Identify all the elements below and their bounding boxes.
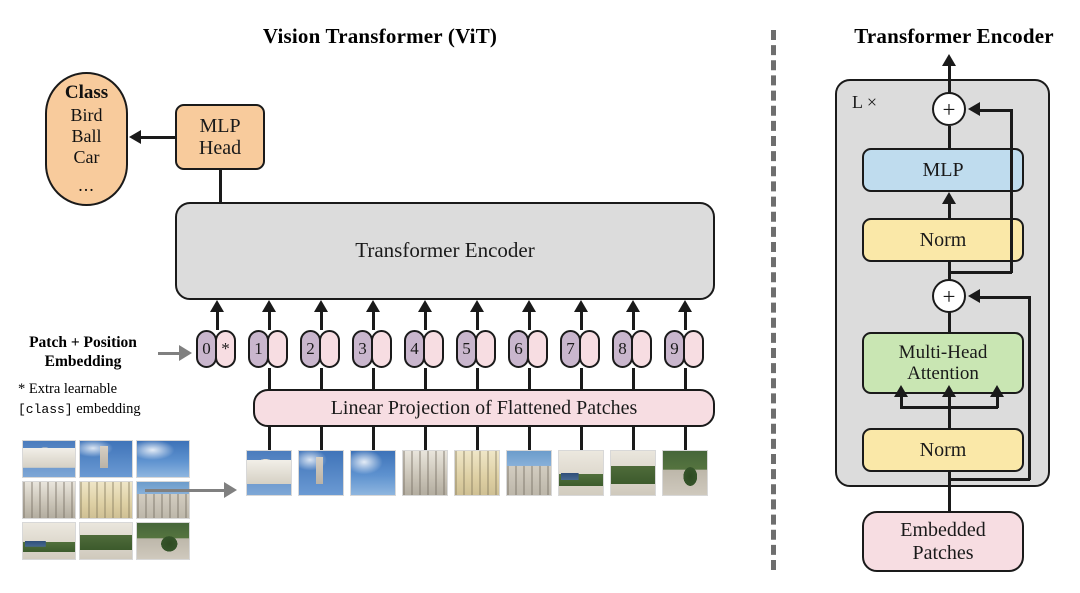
- position-pill-4: 4: [404, 330, 425, 368]
- mlp-head-to-class-arrowhead: [129, 130, 141, 144]
- mha-input-arrowhead-1: [894, 385, 908, 397]
- note-class-token: [class]: [18, 402, 73, 417]
- projection-to-patch-line-5: [476, 427, 479, 450]
- encoder-input-arrowhead-3: [366, 300, 380, 312]
- encoder-input-arrowhead-6: [522, 300, 536, 312]
- projection-to-patch-line-8: [632, 427, 635, 450]
- norm-bottom-label: Norm: [920, 439, 967, 461]
- flattened-patch-4: [402, 450, 448, 496]
- token-9: 9: [664, 330, 704, 368]
- class-token-pill: *: [215, 330, 236, 368]
- projection-to-patch-line-3: [372, 427, 375, 450]
- position-pill-9: 9: [664, 330, 685, 368]
- token-to-projection-line-7: [580, 368, 583, 389]
- note-line1: * Extra learnable: [18, 380, 188, 400]
- source-patch-9: [136, 522, 190, 560]
- projection-to-patch-line-4: [424, 427, 427, 450]
- patch-pill-3: [371, 330, 392, 368]
- projection-to-patch-line-9: [684, 427, 687, 450]
- left-panel-title: Vision Transformer (ViT): [180, 24, 580, 49]
- residual-bottom-h-lower: [948, 478, 1030, 481]
- encoder-input-line-8: [632, 312, 635, 330]
- mha-label-line2: Attention: [907, 363, 979, 384]
- embedding-label-arrow-line: [158, 352, 180, 355]
- class-box-heading: Class: [65, 82, 108, 104]
- position-pill-8: 8: [612, 330, 633, 368]
- token-8: 8: [612, 330, 652, 368]
- mlp-block-label: MLP: [922, 159, 963, 181]
- token-to-projection-line-3: [372, 368, 375, 389]
- encoder-input-arrowhead-2: [314, 300, 328, 312]
- source-grid-arrowhead: [224, 482, 237, 498]
- position-pill-6: 6: [508, 330, 529, 368]
- encoder-input-line-4: [424, 312, 427, 330]
- encoder-input-line-0: [216, 312, 219, 330]
- embedding-label-line2: Embedding: [8, 353, 158, 372]
- vit-architecture-figure: Vision Transformer (ViT) Class Bird Ball…: [0, 0, 1080, 593]
- encoder-input-arrowhead-8: [626, 300, 640, 312]
- token-7: 7: [560, 330, 600, 368]
- encoder-input-line-2: [320, 312, 323, 330]
- encoder-input-arrowhead-9: [678, 300, 692, 312]
- source-patch-8: [79, 522, 133, 560]
- encoder-input-line-6: [528, 312, 531, 330]
- embedded-patches-block: Embedded Patches: [862, 511, 1024, 572]
- patch-pill-1: [267, 330, 288, 368]
- mlp-head-label-line1: MLP: [199, 115, 240, 137]
- transformer-encoder-box: Transformer Encoder: [175, 202, 715, 300]
- encoder-input-line-5: [476, 312, 479, 330]
- encoder-input-line-9: [684, 312, 687, 330]
- norm-block-bottom: Norm: [862, 428, 1024, 472]
- position-pill-5: 5: [456, 330, 477, 368]
- class-box-ellipsis: ...: [78, 175, 95, 196]
- source-patch-1: [22, 440, 76, 478]
- patch-position-embedding-label: Patch + Position Embedding: [8, 334, 158, 372]
- embedded-patches-line1: Embedded: [900, 519, 986, 541]
- token-4: 4: [404, 330, 444, 368]
- position-pill-7: 7: [560, 330, 581, 368]
- projection-to-patch-line-6: [528, 427, 531, 450]
- position-pill-3: 3: [352, 330, 373, 368]
- encoder-input-arrowhead-5: [470, 300, 484, 312]
- encoder-input-arrowhead-0: [210, 300, 224, 312]
- flattened-patch-6: [506, 450, 552, 496]
- patch-pill-6: [527, 330, 548, 368]
- source-patch-5: [79, 481, 133, 519]
- residual-add-bottom: +: [932, 279, 966, 313]
- embedded-patches-line2: Patches: [912, 542, 973, 564]
- encoder-input-arrowhead-4: [418, 300, 432, 312]
- token-6: 6: [508, 330, 548, 368]
- linear-projection-label: Linear Projection of Flattened Patches: [331, 397, 638, 419]
- token-to-projection-line-5: [476, 368, 479, 389]
- token-to-projection-line-9: [684, 368, 687, 389]
- patch-pill-8: [631, 330, 652, 368]
- encoder-input-arrowhead-7: [574, 300, 588, 312]
- encoder-input-arrowhead-1: [262, 300, 276, 312]
- projection-to-patch-line-2: [320, 427, 323, 450]
- residual-top-h-lower: [948, 271, 1012, 274]
- token-to-projection-line-4: [424, 368, 427, 389]
- right-panel-title: Transformer Encoder: [828, 24, 1080, 49]
- mha-input-arrowhead-3: [990, 385, 1004, 397]
- residual-top-riser: [1010, 109, 1013, 273]
- norm-bottom-stem: [948, 406, 951, 428]
- residual-bottom-h-upper: [980, 296, 1030, 299]
- norm-block-top: Norm: [862, 218, 1024, 262]
- patch-pill-2: [319, 330, 340, 368]
- patch-pill-4: [423, 330, 444, 368]
- source-patch-2: [79, 440, 133, 478]
- mha-to-add-bottom-line: [948, 312, 951, 334]
- token-2: 2: [300, 330, 340, 368]
- position-pill-2: 2: [300, 330, 321, 368]
- token-1: 1: [248, 330, 288, 368]
- flattened-patch-5: [454, 450, 500, 496]
- flattened-patch-7: [558, 450, 604, 496]
- panel-divider: [771, 30, 776, 570]
- norm-top-label: Norm: [920, 229, 967, 251]
- projection-to-patch-line-7: [580, 427, 583, 450]
- residual-bottom-arrowhead: [968, 289, 980, 303]
- mlp-head-box: MLP Head: [175, 104, 265, 170]
- class-item-ball: Ball: [72, 126, 102, 147]
- note-line2-tail: embedding: [73, 401, 141, 417]
- residual-add-top: +: [932, 92, 966, 126]
- mlp-head-label-line2: Head: [199, 137, 241, 159]
- source-grid-arrow-line: [145, 489, 225, 492]
- mlp-to-add-top-line: [948, 126, 951, 150]
- position-pill-1: 1: [248, 330, 269, 368]
- residual-top-arrowhead: [968, 102, 980, 116]
- encoder-input-line-1: [268, 312, 271, 330]
- token-to-projection-line-6: [528, 368, 531, 389]
- add-top-to-output-line: [948, 79, 951, 94]
- flattened-patch-3: [350, 450, 396, 496]
- token-0: 0*: [196, 330, 236, 368]
- residual-bottom-riser: [1028, 296, 1031, 480]
- class-item-bird: Bird: [70, 105, 102, 126]
- token-to-projection-line-2: [320, 368, 323, 389]
- flattened-patch-8: [610, 450, 656, 496]
- patch-pill-5: [475, 330, 496, 368]
- source-patch-4: [22, 481, 76, 519]
- mlp-block: MLP: [862, 148, 1024, 192]
- encoder-to-mlp-head-line: [219, 170, 222, 204]
- token-3: 3: [352, 330, 392, 368]
- mha-label-line1: Multi-Head: [899, 342, 988, 363]
- position-pill-0: 0: [196, 330, 217, 368]
- linear-projection-box: Linear Projection of Flattened Patches: [253, 389, 715, 427]
- token-to-projection-line-1: [268, 368, 271, 389]
- repeat-count-label: L ×: [852, 92, 877, 113]
- source-patch-6: [136, 481, 190, 519]
- mha-input-arrowhead-2: [942, 385, 956, 397]
- norm-top-to-mlp-arrowhead: [942, 192, 956, 204]
- embedding-label-line1: Patch + Position: [8, 334, 158, 353]
- extra-learnable-note: * Extra learnable [class] embedding: [18, 380, 188, 419]
- residual-top-h-upper: [980, 109, 1012, 112]
- class-output-box: Class Bird Ball Car ...: [45, 72, 128, 206]
- token-5: 5: [456, 330, 496, 368]
- encoder-input-line-3: [372, 312, 375, 330]
- source-image-patch-grid: [22, 440, 190, 560]
- flattened-patch-2: [298, 450, 344, 496]
- patch-pill-9: [683, 330, 704, 368]
- encoder-output-arrowhead: [942, 54, 956, 66]
- source-patch-3: [136, 440, 190, 478]
- source-patch-7: [22, 522, 76, 560]
- add-top-symbol: +: [943, 98, 956, 121]
- mlp-head-to-class-line: [141, 136, 177, 139]
- flattened-patch-1: [246, 450, 292, 496]
- token-to-projection-line-8: [632, 368, 635, 389]
- class-item-car: Car: [74, 147, 100, 168]
- transformer-encoder-label: Transformer Encoder: [355, 239, 534, 263]
- projection-to-patch-line-1: [268, 427, 271, 450]
- encoder-input-line-7: [580, 312, 583, 330]
- embedding-label-arrowhead: [179, 345, 192, 361]
- patch-pill-7: [579, 330, 600, 368]
- flattened-patch-9: [662, 450, 708, 496]
- add-bottom-symbol: +: [943, 285, 956, 308]
